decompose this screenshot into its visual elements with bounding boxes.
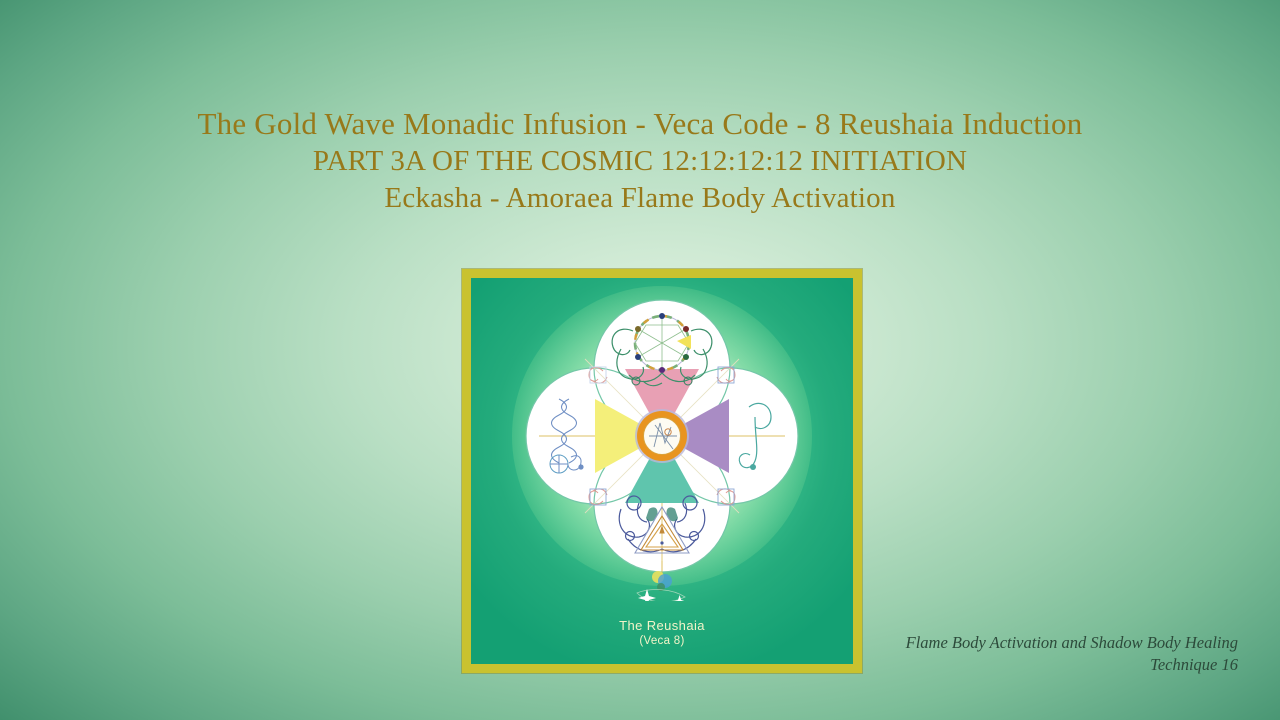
caption-title: The Reushaia (471, 617, 853, 635)
picture-caption: The Reushaia (Veca 8) (471, 617, 853, 650)
footer-line-2: Technique 16 (818, 654, 1238, 676)
title-line-3: Eckasha - Amoraea Flame Body Activation (0, 184, 1280, 213)
footer-note: Flame Body Activation and Shadow Body He… (818, 632, 1238, 677)
diagram-frame: The Reushaia (Veca 8) (462, 269, 862, 673)
title-line-1: The Gold Wave Monadic Infusion - Veca Co… (0, 108, 1280, 139)
diagram-field: The Reushaia (Veca 8) (471, 278, 853, 664)
mandala-svg (497, 278, 827, 601)
slide-canvas: The Gold Wave Monadic Infusion - Veca Co… (0, 0, 1280, 720)
center-seal (635, 409, 689, 463)
reushaia-mandala (497, 278, 827, 601)
caption-subtitle: (Veca 8) (471, 634, 853, 650)
title-line-2: PART 3A OF THE COSMIC 12:12:12:12 INITIA… (0, 147, 1280, 176)
title-block: The Gold Wave Monadic Infusion - Veca Co… (0, 108, 1280, 213)
footer-line-1: Flame Body Activation and Shadow Body He… (818, 632, 1238, 654)
